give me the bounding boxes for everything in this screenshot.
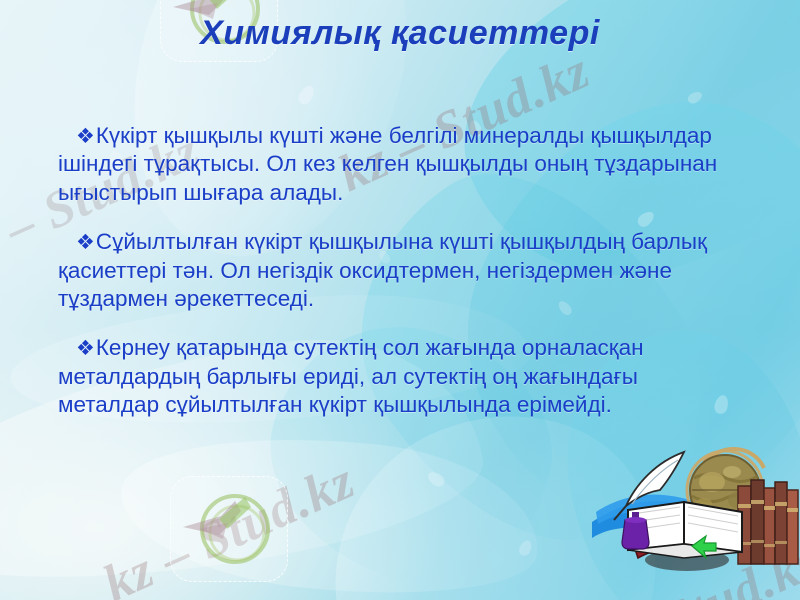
bullet-paragraph: ❖Күкірт қышқылы күшті және белгілі минер… (58, 122, 734, 207)
bullet-paragraph: ❖Сұйылтылған күкірт қышқылына күшті қышқ… (58, 228, 734, 313)
presentation-slide: kz – Stud.kz kz – Stud.kz kz – Stud.kz k… (0, 0, 800, 600)
book-stack (738, 480, 798, 564)
bullet-paragraph: ❖Кернеу қатарында сутектің сол жағында о… (58, 334, 734, 419)
bullet-marker-icon: ❖ (76, 337, 95, 360)
slide-body: ❖Күкірт қышқылы күшті және белгілі минер… (58, 122, 734, 419)
bullet-paragraph-text: Кернеу қатарында сутектің сол жағында ор… (58, 335, 644, 417)
bullet-marker-icon: ❖ (76, 125, 95, 148)
slide-title: Химиялық қасиеттері (0, 14, 800, 53)
bullet-paragraph-text: Сұйылтылған күкірт қышқылына күшті қышқы… (58, 229, 707, 311)
globe-books-quill-illustration (592, 444, 800, 600)
bullet-marker-icon: ❖ (76, 231, 95, 254)
bullet-paragraph-text: Күкірт қышқылы күшті және белгілі минера… (58, 123, 717, 205)
